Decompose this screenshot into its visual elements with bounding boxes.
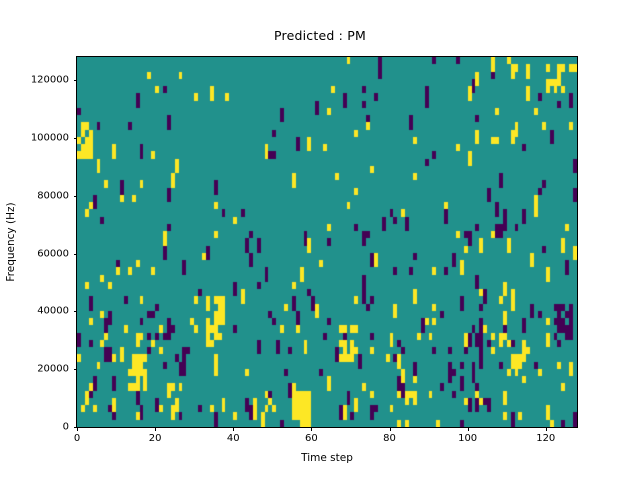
y-tick-label: 20000 (37, 364, 69, 375)
y-tick-mark (74, 311, 78, 312)
y-axis-label: Frequency (Hz) (5, 202, 17, 281)
figure-canvas: Predicted : PM 0200004000060000800001000… (0, 0, 640, 480)
page-title: Predicted : PM (0, 28, 640, 43)
x-tick-mark (233, 427, 234, 431)
y-tick-mark (74, 80, 78, 81)
y-tick-label: 80000 (37, 190, 69, 201)
x-tick-label: 120 (536, 433, 555, 444)
y-tick-label: 120000 (31, 75, 69, 86)
y-tick-label: 40000 (37, 306, 69, 317)
heatmap-axes (76, 56, 578, 428)
x-tick-mark (468, 427, 469, 431)
x-tick-label: 40 (227, 433, 240, 444)
x-tick-label: 80 (383, 433, 396, 444)
x-tick-label: 0 (74, 433, 80, 444)
y-tick-mark (74, 254, 78, 255)
x-tick-mark (390, 427, 391, 431)
y-tick-mark (74, 196, 78, 197)
y-tick-label: 60000 (37, 248, 69, 259)
y-tick-label: 100000 (31, 132, 69, 143)
x-tick-label: 60 (305, 433, 318, 444)
x-tick-mark (155, 427, 156, 431)
x-tick-mark (77, 427, 78, 431)
y-tick-label: 0 (63, 422, 69, 433)
x-axis-label: Time step (77, 452, 577, 464)
x-tick-label: 100 (458, 433, 477, 444)
x-tick-mark (546, 427, 547, 431)
heatmap-image (77, 57, 577, 427)
x-tick-mark (311, 427, 312, 431)
y-tick-mark (74, 369, 78, 370)
y-tick-mark (74, 138, 78, 139)
x-tick-label: 20 (149, 433, 162, 444)
